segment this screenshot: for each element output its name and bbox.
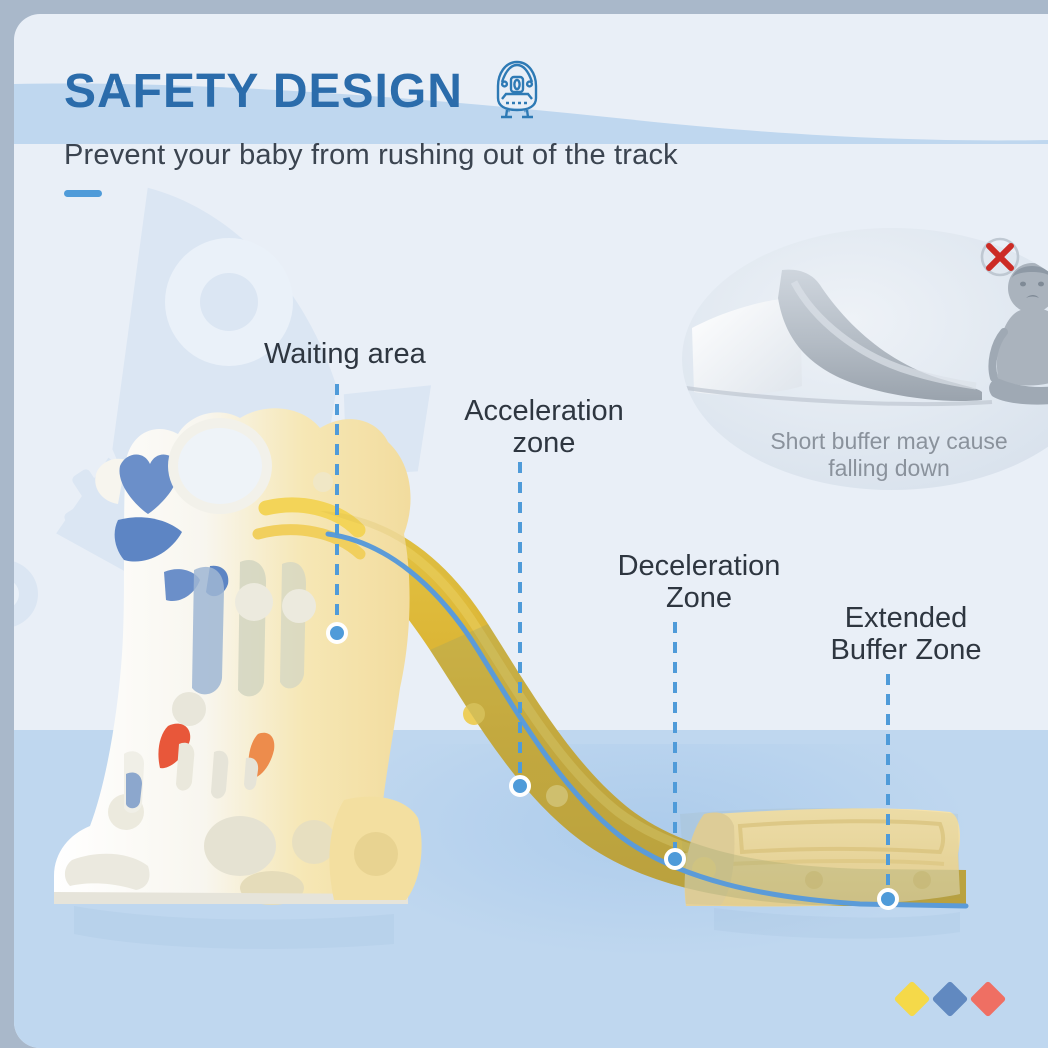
- accent-bar: [64, 190, 102, 197]
- callout-label-waiting-area: Waiting area: [264, 338, 426, 370]
- infographic-frame: SAFETY DESIGN Prevent your baby from rus…: [14, 14, 1048, 1048]
- color-swatches: [899, 986, 1001, 1012]
- swatch-coral: [970, 981, 1007, 1018]
- header: SAFETY DESIGN Prevent your baby from rus…: [64, 58, 964, 197]
- callout-label-acceleration-zone: Acceleration zone: [432, 395, 656, 460]
- no-red-x-icon: [979, 236, 1021, 278]
- callout-label-extended-buffer-zone: Extended Buffer Zone: [800, 602, 1012, 667]
- inset-caption: Short buffer may cause falling down: [714, 428, 1048, 482]
- rocket-lander-icon: [489, 58, 545, 125]
- swatch-yellow: [894, 981, 931, 1018]
- slide-side-panel: [54, 408, 422, 905]
- callout-label-deceleration-zone: Deceleration Zone: [590, 550, 808, 615]
- page-subtitle: Prevent your baby from rushing out of th…: [64, 139, 964, 172]
- page-title: SAFETY DESIGN: [64, 68, 463, 116]
- product-reflection: [74, 906, 960, 949]
- swatch-blue: [932, 981, 969, 1018]
